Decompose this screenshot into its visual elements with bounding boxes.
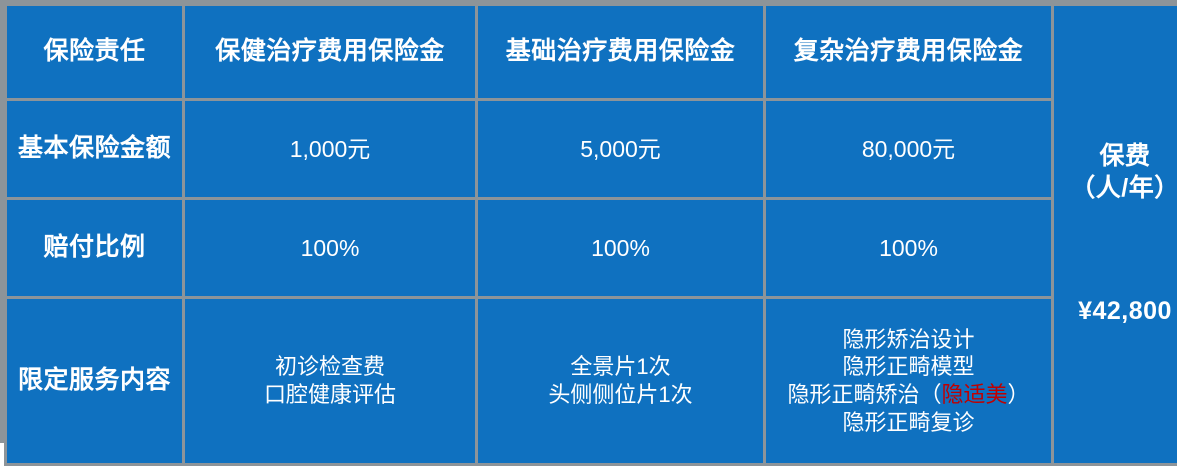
- column-header-responsibility: 保险责任: [7, 6, 182, 98]
- services-care-line-2: 口腔健康评估: [191, 381, 469, 409]
- cell-services-care: 初诊检查费 口腔健康评估: [185, 299, 475, 463]
- row-label-covered-services: 限定服务内容: [7, 299, 182, 463]
- column-header-complex: 复杂治疗费用保险金: [766, 6, 1051, 98]
- services-complex-line-1: 隐形矫治设计: [772, 326, 1045, 354]
- services-complex-line-3: 隐形正畸矫治（隐适美）: [772, 381, 1045, 409]
- table-row-payout-ratio: 赔付比例 100% 100% 100%: [7, 200, 1177, 296]
- cell-services-basic: 全景片1次 头侧侧位片1次: [478, 299, 763, 463]
- premium-header-line-1: 保费: [1060, 141, 1177, 173]
- cell-sum-insured-basic: 5,000元: [478, 101, 763, 197]
- cell-payout-ratio-care: 100%: [185, 200, 475, 296]
- row-label-payout-ratio: 赔付比例: [7, 200, 182, 296]
- services-complex-line-3-prefix: 隐形正畸矫治: [787, 382, 919, 407]
- table-row-sum-insured: 基本保险金额 1,000元 5,000元 80,000元: [7, 101, 1177, 197]
- insurance-benefit-table: 保险责任 保健治疗费用保险金 基础治疗费用保险金 复杂治疗费用保险金 保费 （人…: [4, 3, 1177, 466]
- cell-services-complex: 隐形矫治设计 隐形正畸模型 隐形正畸矫治（隐适美） 隐形正畸复诊: [766, 299, 1051, 463]
- cell-payout-ratio-basic: 100%: [478, 200, 763, 296]
- services-basic-line-2: 头侧侧位片1次: [484, 381, 757, 409]
- cell-payout-ratio-complex: 100%: [766, 200, 1051, 296]
- benefit-table-container: 保险责任 保健治疗费用保险金 基础治疗费用保险金 复杂治疗费用保险金 保费 （人…: [0, 0, 1177, 443]
- services-complex-line-4: 隐形正畸复诊: [772, 409, 1045, 437]
- row-label-sum-insured: 基本保险金额: [7, 101, 182, 197]
- brand-highlight-invisalign: 隐适美: [942, 382, 1008, 407]
- services-basic-line-1: 全景片1次: [484, 353, 757, 381]
- table-row-covered-services: 限定服务内容 初诊检查费 口腔健康评估 全景片1次 头侧侧位片1次 隐形矫治设计…: [7, 299, 1177, 463]
- paren-close-icon: ）: [1008, 382, 1030, 407]
- column-header-premium: 保费 （人/年） ¥42,800: [1054, 6, 1177, 463]
- cell-sum-insured-care: 1,000元: [185, 101, 475, 197]
- table-header-row: 保险责任 保健治疗费用保险金 基础治疗费用保险金 复杂治疗费用保险金 保费 （人…: [7, 6, 1177, 98]
- column-header-basic: 基础治疗费用保险金: [478, 6, 763, 98]
- paren-open-icon: （: [919, 382, 941, 407]
- premium-header-line-2: （人/年）: [1060, 173, 1177, 205]
- premium-value: ¥42,800: [1060, 296, 1177, 328]
- services-complex-line-2: 隐形正畸模型: [772, 353, 1045, 381]
- services-care-line-1: 初诊检查费: [191, 353, 469, 381]
- cell-sum-insured-complex: 80,000元: [766, 101, 1051, 197]
- column-header-care: 保健治疗费用保险金: [185, 6, 475, 98]
